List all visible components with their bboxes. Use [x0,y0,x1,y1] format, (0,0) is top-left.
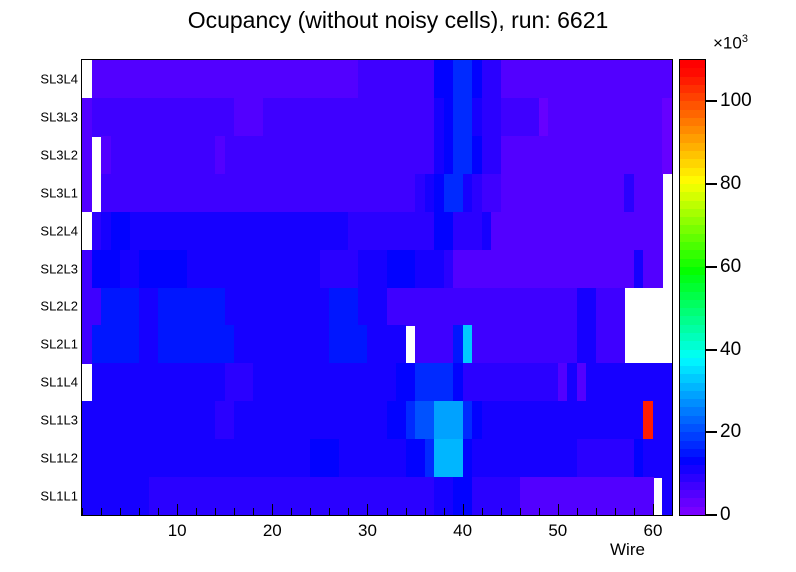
y-axis-tick-label: SL1L4 [4,375,78,390]
y-axis-labels: SL3L4SL3L3SL3L2SL3L1SL2L4SL2L3SL2L2SL2L1… [0,0,78,572]
y-axis-tick-label: SL3L2 [4,147,78,162]
x-axis-tick-mark [596,508,597,516]
x-axis-tick-mark [310,508,311,516]
heatmap-cell [82,136,92,175]
heatmap-cell [653,250,663,289]
x-axis-tick-mark [615,508,616,516]
colorbar-band [680,241,705,250]
colorbar[interactable] [679,59,706,516]
colorbar-band [680,92,705,101]
colorbar-tick-label: 60 [720,256,741,278]
colorbar-band [680,233,705,242]
x-axis-tick-mark [387,508,388,516]
y-axis-tick-label: SL2L4 [4,223,78,238]
x-axis-tick-mark [558,504,559,516]
colorbar-band [680,324,705,333]
colorbar-tick-label: 20 [720,421,741,443]
heatmap-cell [662,60,672,99]
heatmap-cell [396,325,406,364]
colorbar-band [680,448,705,457]
x-axis-tick-mark [482,508,483,516]
colorbar-tick-mark [706,349,717,351]
x-axis-tick-mark [101,508,102,516]
x-axis-tick-mark [406,508,407,516]
x-axis-tick-mark [520,508,521,516]
colorbar-band [680,473,705,482]
heatmap-cell [662,98,672,137]
colorbar-band [680,274,705,283]
colorbar-band [680,183,705,192]
colorbar-band [680,332,705,341]
y-axis-tick-label: SL1L2 [4,451,78,466]
x-axis-title: Wire [610,540,645,560]
x-axis-tick-label: 30 [358,521,377,541]
x-axis-tick-mark [291,508,292,516]
heatmap-cell [662,363,672,402]
colorbar-band [680,291,705,300]
heatmap-cell [662,439,672,478]
colorbar-exponent-power: 3 [742,33,748,45]
x-axis-tick-label: 10 [168,521,187,541]
colorbar-band [680,490,705,499]
colorbar-band [680,126,705,135]
colorbar-band [680,390,705,399]
colorbar-band [680,84,705,93]
x-axis-tick-mark [196,508,197,516]
colorbar-band [680,456,705,465]
x-axis-tick-mark [348,508,349,516]
colorbar-exponent-label: ×103 [713,33,748,54]
colorbar-band [680,506,705,515]
colorbar-tick-label: 0 [720,504,731,526]
y-axis-tick-label: SL3L3 [4,109,78,124]
x-axis-tick-mark [329,508,330,516]
x-axis-tick-mark [463,504,464,516]
colorbar-band [680,357,705,366]
colorbar-tick-mark [706,183,717,185]
y-axis-tick-label: SL1L1 [4,489,78,504]
x-axis-tick-mark [634,508,635,516]
colorbar-tick-mark [706,266,717,268]
x-axis-tick-mark [539,508,540,516]
x-axis-tick-mark [444,508,445,516]
x-axis-tick-mark [234,508,235,516]
x-axis-tick-mark [253,508,254,516]
y-axis-tick-label: SL2L2 [4,299,78,314]
colorbar-band [680,415,705,424]
x-axis-tick-mark [139,508,140,516]
colorbar-band [680,175,705,184]
heatmap-cell [653,174,663,213]
colorbar-band [680,68,705,77]
x-axis-tick-mark [425,508,426,516]
x-axis-tick-mark [158,508,159,516]
colorbar-band [680,208,705,217]
heatmap-grid[interactable] [82,60,672,515]
plot-frame[interactable] [81,59,673,516]
colorbar-band [680,101,705,110]
heatmap-cell [615,325,625,364]
colorbar-tick-label: 100 [720,90,752,112]
colorbar-band [680,200,705,209]
colorbar-band [680,159,705,168]
x-axis-tick-mark [501,508,502,516]
colorbar-band [680,374,705,383]
colorbar-band [680,150,705,159]
colorbar-band [680,382,705,391]
colorbar-band [680,399,705,408]
colorbar-tick-mark [706,431,717,433]
colorbar-tick-label: 80 [720,173,741,195]
colorbar-band [680,407,705,416]
colorbar-band [680,299,705,308]
colorbar-band [680,192,705,201]
colorbar-band [680,266,705,275]
colorbar-band [680,117,705,126]
y-axis-tick-label: SL3L4 [4,71,78,86]
x-axis-tick-mark [215,508,216,516]
colorbar-band [680,349,705,358]
x-axis-tick-mark [653,504,654,516]
x-axis-tick-label: 40 [453,521,472,541]
colorbar-band [680,481,705,490]
colorbar-tick-mark [706,514,717,516]
colorbar-tick-mark [706,100,717,102]
root-canvas: Ocupancy (without noisy cells), run: 662… [0,0,796,572]
y-axis-tick-label: SL1L3 [4,413,78,428]
y-axis-tick-label: SL2L3 [4,261,78,276]
colorbar-band [680,76,705,85]
colorbar-band [680,59,705,68]
x-axis-tick-label: 20 [263,521,282,541]
y-axis-tick-label: SL2L1 [4,337,78,352]
colorbar-band [680,142,705,151]
colorbar-band [680,308,705,317]
y-axis-tick-label: SL3L1 [4,185,78,200]
colorbar-band [680,365,705,374]
colorbar-band [680,225,705,234]
colorbar-band [680,258,705,267]
page-title: Ocupancy (without noisy cells), run: 662… [0,7,796,34]
colorbar-band [680,283,705,292]
x-axis-tick-mark [577,508,578,516]
colorbar-band [680,432,705,441]
colorbar-band [680,316,705,325]
colorbar-band [680,341,705,350]
heatmap-cell [615,288,625,327]
x-axis-tick-label: 50 [548,521,567,541]
colorbar-band [680,498,705,507]
colorbar-band [680,440,705,449]
x-axis-tick-label: 60 [643,521,662,541]
x-axis-tick-mark [272,504,273,516]
colorbar-band [680,109,705,118]
x-axis-tick-mark [672,508,673,516]
x-axis-tick-mark [120,508,121,516]
colorbar-band [680,465,705,474]
x-axis-tick-mark [82,508,83,516]
colorbar-band [680,250,705,259]
heatmap-cell [662,136,672,175]
x-axis-tick-mark [367,504,368,516]
heatmap-cell [82,174,92,213]
heatmap-cell [653,212,663,251]
colorbar-band [680,167,705,176]
heatmap-cell [662,401,672,440]
colorbar-band [680,134,705,143]
colorbar-band [680,217,705,226]
colorbar-exponent-base: ×10 [713,34,742,53]
colorbar-tick-label: 40 [720,339,741,361]
colorbar-band [680,423,705,432]
x-axis-tick-mark [177,504,178,516]
